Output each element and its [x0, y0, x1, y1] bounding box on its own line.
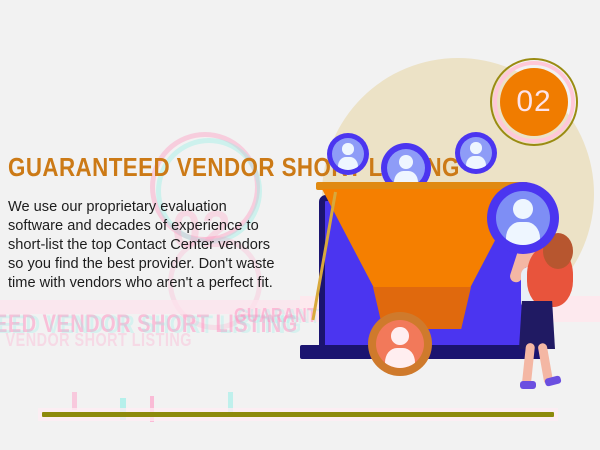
ghost-band-upper [0, 300, 300, 314]
person-shoe-left [520, 381, 536, 389]
badge-number: 02 [516, 85, 551, 119]
page-title: GUARANTEED VENDOR SHORT LISTING [8, 152, 292, 183]
avatar-head [391, 327, 409, 345]
step-number-badge: 02 [490, 58, 578, 146]
body-paragraph: We use our proprietary evaluation softwa… [8, 198, 308, 293]
person-leg-left [522, 343, 535, 386]
held-avatar-icon [487, 182, 559, 254]
slide-canvas: 02 EED VENDOR SHORT LISTING EED VENDOR S… [0, 0, 600, 450]
avatar-disc [332, 138, 364, 170]
avatar-torso [338, 157, 358, 170]
footer-rule [42, 412, 554, 417]
avatar-torso [385, 348, 415, 368]
ghost-headline-tail: EED VENDOR SHORT LISTING [0, 330, 192, 351]
ghost-headline-echo-cyan: EED VENDOR SHORT LISTING [0, 311, 302, 340]
person-skirt [519, 301, 555, 349]
ghost-headline-echo: EED VENDOR SHORT LISTING [0, 310, 298, 339]
avatar-torso [506, 222, 540, 245]
avatar-disc [460, 137, 492, 169]
input-avatar-icon-1 [327, 133, 369, 175]
avatar-head [399, 155, 413, 169]
avatar-head [513, 199, 533, 219]
badge-core: 02 [500, 68, 568, 136]
avatar-head [470, 142, 481, 153]
avatar-torso [466, 156, 486, 169]
funnel-rim [316, 182, 528, 190]
avatar-head [342, 143, 353, 154]
input-avatar-icon-3 [455, 132, 497, 174]
output-avatar-icon [368, 312, 432, 376]
